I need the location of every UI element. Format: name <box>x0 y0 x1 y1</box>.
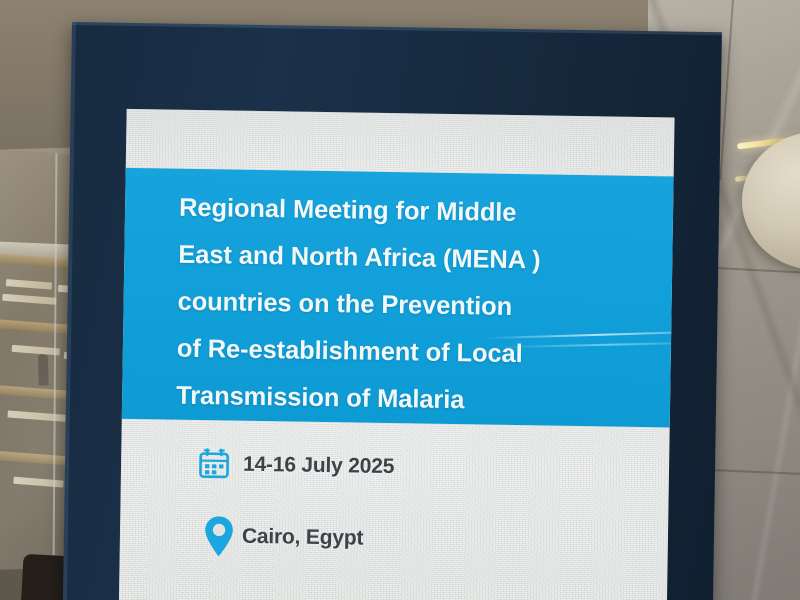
poster-stand: Regional Meeting for Middle East and Nor… <box>63 22 722 600</box>
event-location: Cairo, Egypt <box>242 525 364 551</box>
detail-row-date: 14-16 July 2025 <box>197 447 395 484</box>
calendar-icon <box>197 447 244 482</box>
poster-paper: Regional Meeting for Middle East and Nor… <box>119 109 675 600</box>
location-pin-icon <box>196 515 243 558</box>
detail-row-location: Cairo, Egypt <box>196 515 394 560</box>
poster-details: 14-16 July 2025 Cairo, Egypt <box>195 447 394 594</box>
photo-scene: Regional Meeting for Middle East and Nor… <box>0 0 800 600</box>
headline-band: Regional Meeting for Middle East and Nor… <box>122 168 674 428</box>
poster-headline: Regional Meeting for Middle East and Nor… <box>176 185 656 427</box>
event-date: 14-16 July 2025 <box>243 453 394 479</box>
